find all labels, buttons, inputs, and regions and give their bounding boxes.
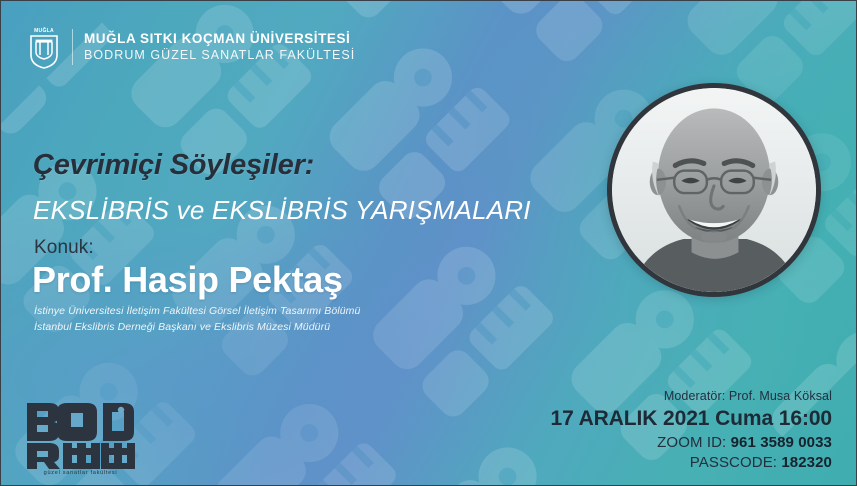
speaker-name: Prof. Hasip Pektaş (32, 259, 343, 301)
credential-line-2: İstanbul Ekslibris Derneği Başkanı ve Ek… (34, 320, 360, 334)
speaker-credentials: İstinye Üniversitesi İletişim Fakültesi … (34, 304, 360, 334)
university-name: MUĞLA SITKI KOÇMAN ÜNİVERSİTESİ (84, 31, 355, 47)
university-names: MUĞLA SITKI KOÇMAN ÜNİVERSİTESİ BODRUM G… (84, 31, 355, 64)
zoom-id-line: ZOOM ID: 961 3589 0033 (657, 434, 832, 451)
header-divider (72, 29, 73, 65)
bodrum-logo-icon (23, 399, 138, 469)
speaker-portrait-photo (612, 88, 816, 292)
credential-line-1: İstinye Üniversitesi İletişim Fakültesi … (34, 304, 360, 318)
event-info: Moderatör: Prof. Musa Köksal 17 ARALIK 2… (550, 389, 832, 471)
guest-label: Konuk: (34, 237, 94, 259)
poster-content: MUĞLA MUĞLA SITKI KOÇMAN ÜNİVERSİTESİ BO… (1, 1, 856, 485)
passcode-label: PASSCODE: (690, 454, 777, 471)
mugla-university-crest-icon: MUĞLA (27, 25, 61, 69)
faculty-name: BODRUM GÜZEL SANATLAR FAKÜLTESİ (84, 48, 355, 63)
bodrum-logo: güzel sanatlar fakültesi (23, 399, 138, 476)
zoom-id-label: ZOOM ID: (657, 434, 726, 451)
event-datetime: 17 ARALIK 2021 Cuma 16:00 (550, 407, 832, 431)
topic-title: EKSLİBRİS ve EKSLİBRİS YARIŞMALARI (33, 195, 531, 226)
passcode-line: PASSCODE: 182320 (690, 454, 832, 471)
moderator-line: Moderatör: Prof. Musa Köksal (664, 389, 832, 403)
university-header: MUĞLA MUĞLA SITKI KOÇMAN ÜNİVERSİTESİ BO… (27, 25, 355, 69)
speaker-portrait (607, 83, 821, 297)
zoom-id-value: 961 3589 0033 (731, 434, 832, 451)
bodrum-logo-tagline: güzel sanatlar fakültesi (23, 470, 138, 476)
series-title: Çevrimiçi Söyleşiler: (33, 149, 314, 182)
event-poster: MUĞLA MUĞLA SITKI KOÇMAN ÜNİVERSİTESİ BO… (0, 0, 857, 486)
passcode-value: 182320 (781, 454, 832, 471)
svg-text:MUĞLA: MUĞLA (34, 26, 54, 34)
